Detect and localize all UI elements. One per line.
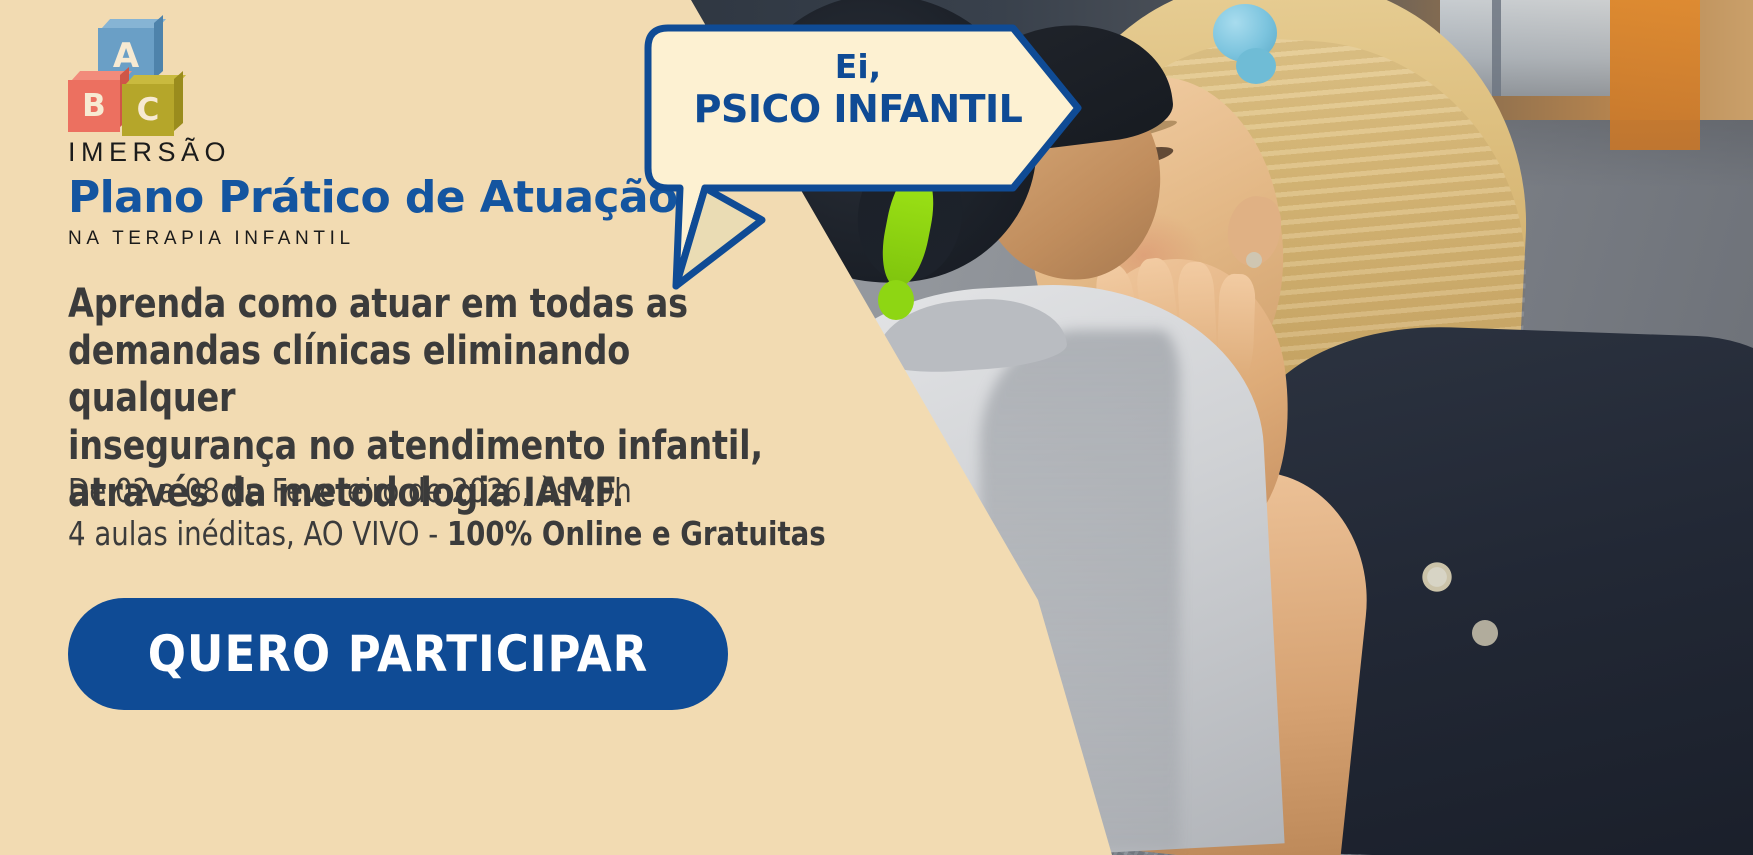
- event-classes-highlight: 100% Online e Gratuitas: [447, 514, 826, 553]
- block-b-letter: B: [68, 80, 120, 132]
- girl-shirt-flower: [1420, 560, 1454, 594]
- page-title: Plano Prático de Atuação: [68, 172, 678, 223]
- event-classes-prefix: 4 aulas inéditas, AO VIVO -: [68, 514, 447, 553]
- event-classes: 4 aulas inéditas, AO VIVO - 100% Online …: [68, 513, 868, 556]
- headline-line-2: demandas clínicas eliminando qualquer: [68, 328, 775, 422]
- speech-bubble-shape: [630, 14, 1090, 304]
- block-a-side: [154, 15, 163, 79]
- photo-orange-panel: [1610, 0, 1700, 150]
- boy-shirt-shadow: [980, 330, 1180, 850]
- girl-hair-clip-secondary: [1236, 48, 1276, 84]
- block-c-letter: C: [122, 84, 174, 136]
- event-details: De 02 a 08 de Fevereiro de 2026, às 20h …: [68, 470, 868, 556]
- speech-bubble: Ei, PSICO INFANTIL: [630, 14, 1090, 304]
- quero-participar-button[interactable]: QUERO PARTICIPAR: [68, 598, 728, 710]
- girl-earring: [1246, 252, 1262, 268]
- brand-eyebrow: IMERSÃO: [68, 137, 231, 168]
- promo-banner: A B C IMERSÃO Plano Prático de Atuação N…: [0, 0, 1753, 855]
- headline-line-3: insegurança no atendimento infantil,: [68, 423, 775, 470]
- abc-blocks-icon: A B C: [68, 28, 190, 136]
- block-c-side: [174, 71, 183, 131]
- girl-shirt-flower-small: [1472, 620, 1498, 646]
- brand-subtitle: NA TERAPIA INFANTIL: [68, 228, 355, 250]
- photo-window-bar: [1492, 0, 1501, 96]
- event-date: De 02 a 08 de Fevereiro de 2026, às 20h: [68, 470, 868, 513]
